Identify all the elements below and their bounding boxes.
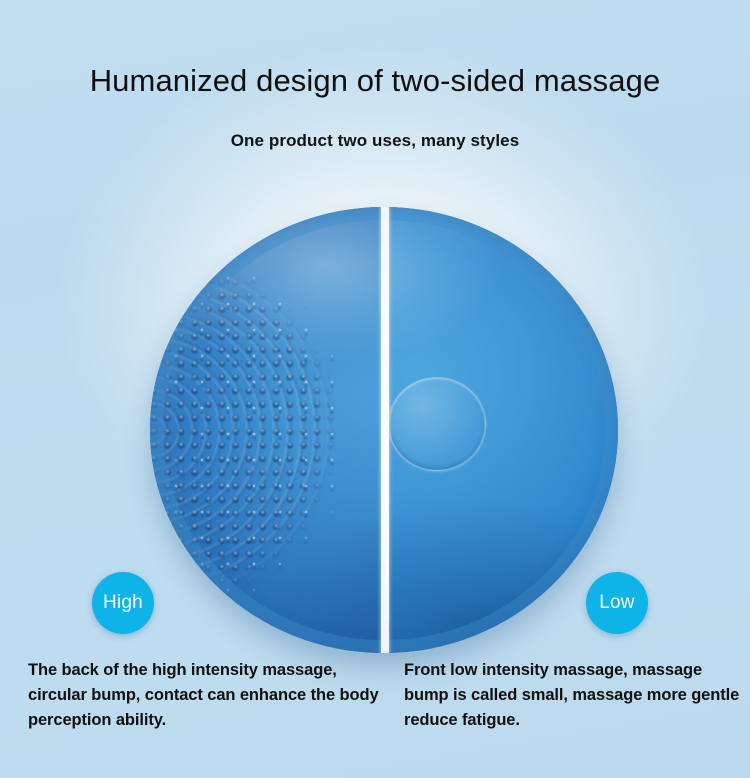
badge-high: High (92, 572, 154, 634)
sparse-bump-texture (150, 207, 384, 653)
product-infographic: Humanized design of two-sided massage On… (0, 0, 750, 778)
center-divider (381, 207, 389, 653)
caption-high-intensity: The back of the high intensity massage, … (28, 658, 380, 733)
badge-low: Low (586, 572, 648, 634)
balance-disc (150, 207, 618, 653)
page-title: Humanized design of two-sided massage (0, 63, 750, 99)
product-image (150, 207, 618, 653)
caption-low-intensity: Front low intensity massage, massage bum… (404, 658, 750, 733)
center-valve-circle (388, 377, 486, 471)
page-subtitle: One product two uses, many styles (0, 131, 750, 151)
badge-high-label: High (103, 592, 143, 614)
badge-low-label: Low (599, 592, 634, 614)
